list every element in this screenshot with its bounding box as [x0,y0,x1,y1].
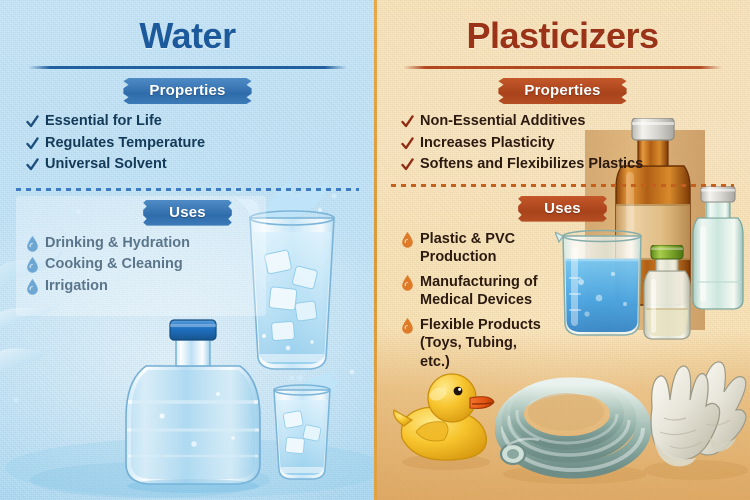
check-icon [26,113,39,130]
list-item-label: Plastic & PVC Production [420,230,545,267]
check-icon [401,156,414,173]
list-item-label: Flexible Products (Toys, Tubing, etc.) [420,316,545,372]
plasticizers-content: Plasticizers Properties Non-Essential Ad… [375,0,750,500]
section-divider-plasticizers [375,184,750,187]
banner-plasticizers-uses: Uses [518,196,607,222]
water-properties-list: Essential for Life Regulates Temperature… [0,112,375,174]
check-icon [26,156,39,173]
list-item-label: Regulates Temperature [45,134,205,153]
check-icon [401,135,414,152]
panel-water: Water Properties Essential for Life Regu… [0,0,375,500]
list-item: Universal Solvent [26,155,375,174]
page-title-plasticizers: Plasticizers [375,0,750,54]
banner-plasticizers-properties: Properties [498,78,626,104]
page-title-water: Water [0,0,375,54]
orange-droplet-icon [401,317,414,334]
list-item: Plastic & PVC Production [401,230,545,267]
banner-water-properties: Properties [123,78,251,104]
list-item: Essential for Life [26,112,375,131]
list-item-label: Increases Plasticity [420,134,555,153]
water-content: Water Properties Essential for Life Regu… [0,0,375,500]
banner-wrap-plasticizers-uses: Uses [375,196,750,222]
banner-wrap-plasticizers-properties: Properties [375,78,750,104]
banner-wrap-water-properties: Properties [0,78,375,104]
list-item: Regulates Temperature [26,134,375,153]
list-item-label: Essential for Life [45,112,162,131]
banner-water-uses: Uses [143,200,232,226]
title-underline-plasticizers [403,66,722,69]
list-item: Flexible Products (Toys, Tubing, etc.) [401,316,545,372]
panel-plasticizers: Plasticizers Properties Non-Essential Ad… [375,0,750,500]
title-underline-water [28,66,347,69]
plasticizers-properties-list: Non-Essential Additives Increases Plasti… [375,112,750,174]
section-divider-water [0,188,375,191]
list-item-label: Manufacturing of Medical Devices [420,273,545,310]
list-item: Softens and Flexibilizes Plastics [401,155,750,174]
orange-droplet-icon [401,274,414,291]
center-divider [374,0,377,500]
list-item: Manufacturing of Medical Devices [401,273,545,310]
list-item-label: Universal Solvent [45,155,167,174]
list-item-label: Non-Essential Additives [420,112,585,131]
infographic-root: Water Properties Essential for Life Regu… [0,0,750,500]
check-icon [401,113,414,130]
list-item-label: Softens and Flexibilizes Plastics [420,155,643,174]
orange-droplet-icon [401,231,414,248]
list-item: Increases Plasticity [401,134,750,153]
plasticizers-uses-list: Plastic & PVC Production Manufacturing o… [375,230,545,372]
check-icon [26,135,39,152]
list-item: Non-Essential Additives [401,112,750,131]
